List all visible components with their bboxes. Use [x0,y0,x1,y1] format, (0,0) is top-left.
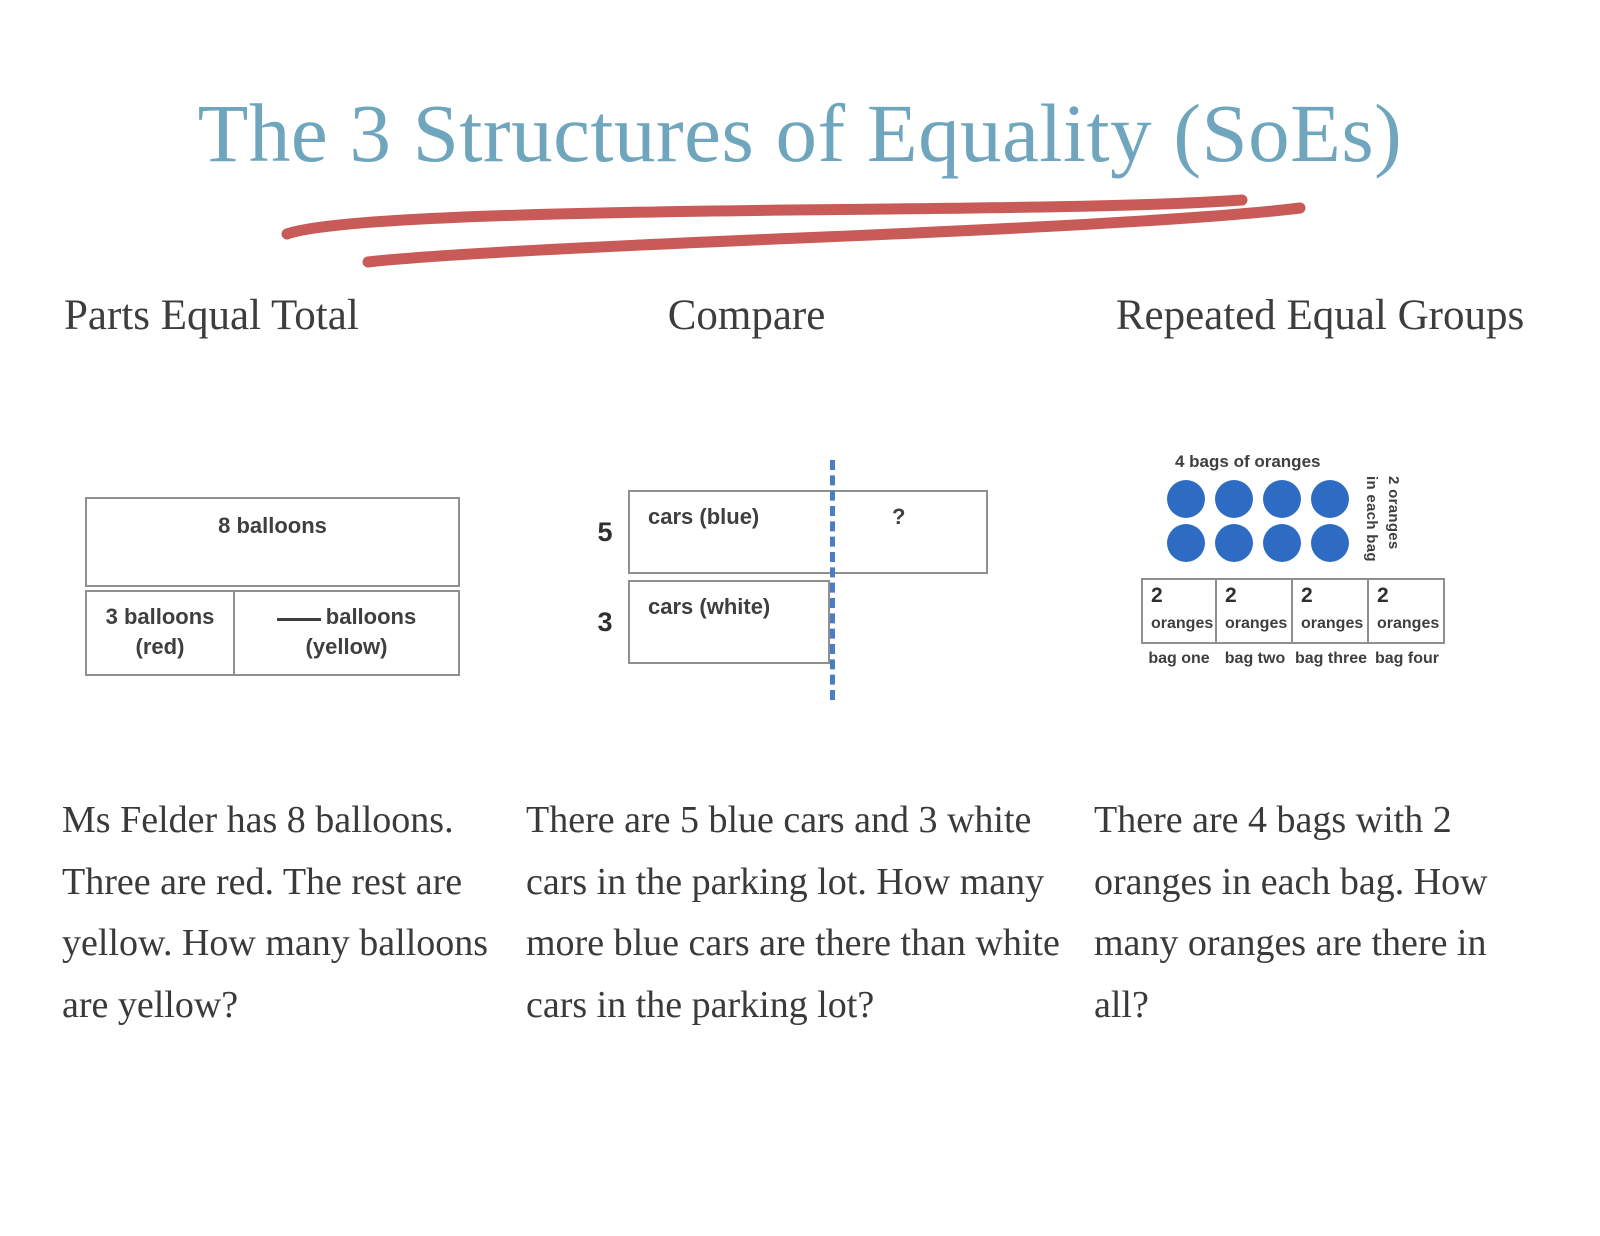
orange-dot-icon [1167,480,1205,518]
bag-cell: 2 oranges [1369,578,1445,644]
orange-dot-icon [1263,524,1301,562]
tape-part-red-line1: 3 balloons [87,602,233,632]
tape-blank-underscore [277,618,321,621]
bag-cell-unit: oranges [1225,615,1291,633]
tape-parts-row: 3 balloons (red) balloons (yellow) [85,590,460,676]
bag-name-label: bag one [1141,650,1217,668]
bag-name-label: bag three [1293,650,1369,668]
compare-count-white: 3 [582,607,628,638]
diagram-slot-1: 8 balloons 3 balloons (red) balloons (ye… [52,342,504,642]
orange-dots-area: in each bag 2 oranges [1141,480,1481,572]
bag-cell: 2 oranges [1293,578,1369,644]
bag-name-label: bag four [1369,650,1445,668]
orange-dot-icon [1215,480,1253,518]
tape-part-yellow-line1: balloons [235,602,458,632]
diagram-slot-2: 5 cars (blue) ? 3 cars (white) [516,342,1072,642]
compare-unknown-question-mark: ? [892,504,905,530]
orange-dot-icon [1311,480,1349,518]
orange-dots-grid [1167,480,1359,568]
bag-cell-number: 2 [1301,584,1367,608]
bag-cell-number: 2 [1151,584,1215,608]
groups-side-label-in-each-bag: in each bag [1363,476,1380,562]
title-underline-scribble [0,186,1600,276]
orange-dot-icon [1215,524,1253,562]
diagram-slot-3: 4 bags of oranges in each bag 2 oranges [1086,342,1554,642]
equal-groups-array-diagram: 4 bags of oranges in each bag 2 oranges [1141,452,1481,668]
column-heading-parts-equal-total: Parts Equal Total [52,290,504,342]
tape-part-yellow-box: balloons (yellow) [235,590,460,676]
page-title: The 3 Structures of Equality (SoEs) [0,92,1600,175]
problem-text-compare: There are 5 blue cars and 3 white cars i… [526,790,1062,1036]
bag-cell: 2 oranges [1217,578,1293,644]
tape-total-box: 8 balloons [85,497,460,587]
part-part-whole-tape-diagram: 8 balloons 3 balloons (red) balloons (ye… [85,497,460,676]
compare-bar-white-label: cars (white) [648,594,770,620]
tape-part-red-line2: (red) [87,632,233,662]
bag-cell-unit: oranges [1377,615,1443,633]
compare-bar-white: cars (white) [628,580,830,664]
problem-text-repeated-equal-groups: There are 4 bags with 2 oranges in each … [1094,790,1550,1036]
bag-cell-unit: oranges [1301,615,1367,633]
orange-dot-icon [1311,524,1349,562]
compare-bar-blue: cars (blue) ? [628,490,988,574]
tape-part-yellow-unit: balloons [326,604,416,629]
tape-part-red-box: 3 balloons (red) [85,590,235,676]
column-parts-equal-total: Parts Equal Total 8 balloons 3 balloons … [52,290,504,642]
compare-count-blue: 5 [582,517,628,548]
bag-name-label: bag two [1217,650,1293,668]
tape-total-label: 8 balloons [218,513,327,538]
orange-dot-icon [1263,480,1301,518]
compare-bar-blue-label: cars (blue) [648,504,759,530]
bag-cell: 2 oranges [1141,578,1217,644]
bags-name-row: bag one bag two bag three bag four [1141,650,1481,668]
column-compare: Compare 5 cars (blue) ? 3 cars (white) T… [516,290,1072,642]
groups-side-label-amount: 2 oranges [1385,476,1402,550]
tape-part-yellow-line2: (yellow) [235,632,458,662]
compare-dashed-divider-line [830,460,835,700]
column-repeated-equal-groups: Repeated Equal Groups 4 bags of oranges … [1086,290,1554,642]
comparison-bar-diagram: 5 cars (blue) ? 3 cars (white) [582,452,1038,702]
column-heading-compare: Compare [516,290,1072,342]
orange-dot-icon [1167,524,1205,562]
groups-heading-label: 4 bags of oranges [1175,452,1481,472]
bag-cell-number: 2 [1225,584,1291,608]
bag-cell-unit: oranges [1151,615,1215,633]
compare-row-blue: 5 cars (blue) ? [582,490,988,574]
compare-row-white: 3 cars (white) [582,580,830,664]
bag-cell-number: 2 [1377,584,1443,608]
bags-table: 2 oranges 2 oranges 2 oranges 2 oranges [1141,578,1481,644]
column-heading-repeated-equal-groups: Repeated Equal Groups [1086,290,1554,342]
problem-text-parts-equal-total: Ms Felder has 8 balloons. Three are red.… [62,790,492,1036]
